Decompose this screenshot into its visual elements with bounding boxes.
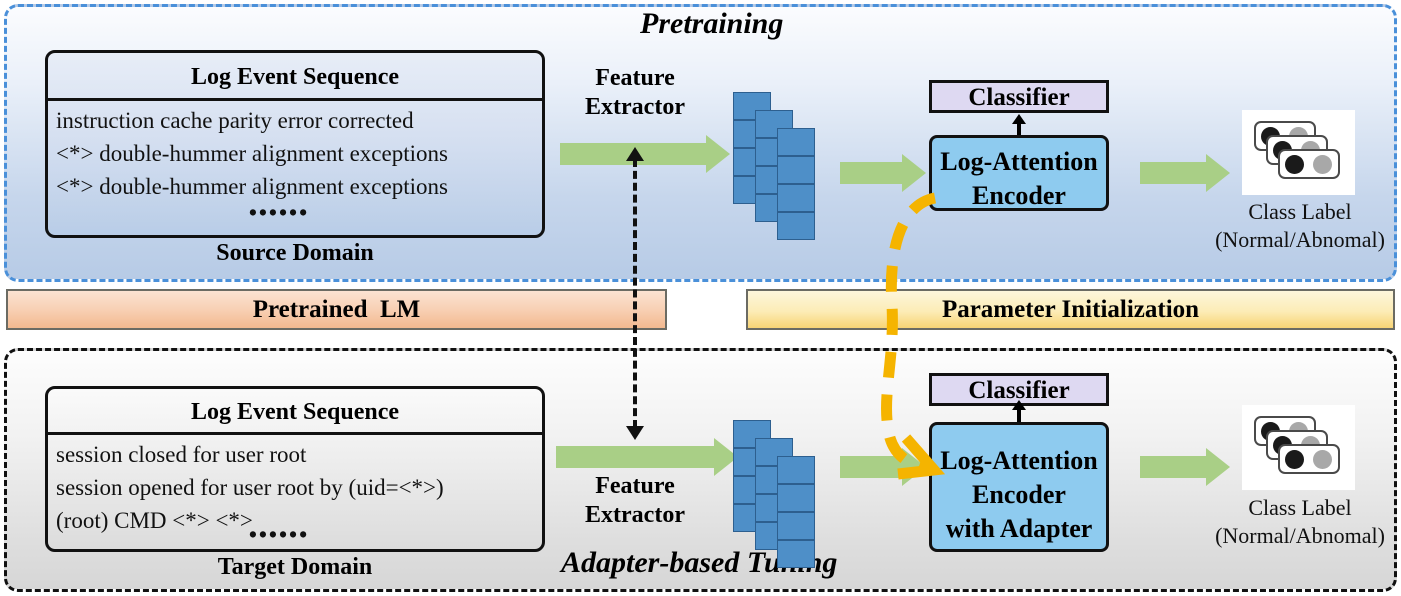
feature-cube [777, 456, 815, 484]
target-domain-caption: Target Domain [45, 554, 545, 581]
class-label-line1: Class Label [1215, 494, 1385, 522]
class-label-icon-bottom [1242, 405, 1355, 490]
class-label-icon-top [1242, 110, 1355, 195]
class-label-line2: (Normal/Abnomal) [1215, 226, 1385, 254]
source-domain-caption: Source Domain [45, 240, 545, 267]
target-log-lines: session closed for user root session ope… [48, 435, 542, 545]
feature-cube [777, 128, 815, 156]
flow-arrow-extractor-to-encoder-top [840, 154, 926, 192]
class-label-caption-bottom: Class Label (Normal/Abnomal) [1215, 494, 1385, 550]
class-label-line1: Class Label [1215, 198, 1385, 226]
encoder-to-classifier-arrow-bottom [1012, 400, 1026, 422]
feature-cube [777, 212, 815, 240]
label-card-front [1278, 444, 1340, 474]
feature-extractor-label-line1: Feature [565, 64, 705, 93]
feature-cube [777, 156, 815, 184]
log-line: session opened for user root by (uid=<*>… [56, 471, 542, 504]
feature-extractor-label-line1: Feature [565, 472, 705, 501]
feature-cube [777, 512, 815, 540]
flow-arrow-source-to-extractor [560, 135, 730, 173]
pretrained-lm-banner: Pretrained LM [6, 289, 667, 330]
pretrained-lm-link-arrow [625, 147, 645, 440]
flow-arrow-encoder-to-label-top [1140, 154, 1230, 192]
encoder-label-line1: Log-Attention [932, 145, 1106, 179]
init-curve-path [887, 198, 935, 470]
source-log-event-box: Log Event Sequence instruction cache par… [45, 50, 545, 238]
feature-cube [777, 484, 815, 512]
label-card-front [1278, 149, 1340, 179]
class-label-caption-top: Class Label (Normal/Abnomal) [1215, 198, 1385, 254]
target-log-event-box: Log Event Sequence session closed for us… [45, 386, 545, 552]
feature-extractor-label-bottom: Feature Extractor [565, 472, 705, 530]
encoder-to-classifier-arrow-top [1012, 114, 1026, 135]
feature-cube [777, 540, 815, 568]
log-line: <*> double-hummer alignment exceptions [56, 137, 542, 170]
encoder-label-line3: with Adapter [932, 512, 1106, 546]
log-line: <*> double-hummer alignment exceptions [56, 170, 542, 203]
flow-arrow-encoder-to-label-bottom [1140, 448, 1230, 486]
feature-cubes-top [733, 92, 843, 228]
source-log-header: Log Event Sequence [48, 53, 542, 101]
target-log-header: Log Event Sequence [48, 389, 542, 435]
feature-cube [777, 184, 815, 212]
feature-extractor-label-top: Feature Extractor [565, 64, 705, 122]
diagram-canvas: Pretraining Log Event Sequence instructi… [0, 0, 1401, 596]
encoder-label-line2: Encoder [932, 478, 1106, 512]
class-label-line2: (Normal/Abnomal) [1215, 522, 1385, 550]
log-line: instruction cache parity error corrected [56, 104, 542, 137]
source-log-lines: instruction cache parity error corrected… [48, 101, 542, 223]
dashed-line [633, 159, 637, 428]
feature-extractor-label-line2: Extractor [565, 93, 705, 122]
log-line: session closed for user root [56, 438, 542, 471]
feature-cubes-bottom [733, 420, 843, 556]
parameter-initialization-curve [840, 190, 980, 480]
pretraining-title: Pretraining [640, 7, 783, 41]
classifier-box-top: Classifier [929, 80, 1109, 113]
feature-extractor-label-line2: Extractor [565, 501, 705, 530]
flow-arrow-target-to-extractor [556, 438, 738, 476]
arrowhead-down [626, 426, 644, 440]
source-log-ellipsis: •••••• [56, 203, 542, 223]
